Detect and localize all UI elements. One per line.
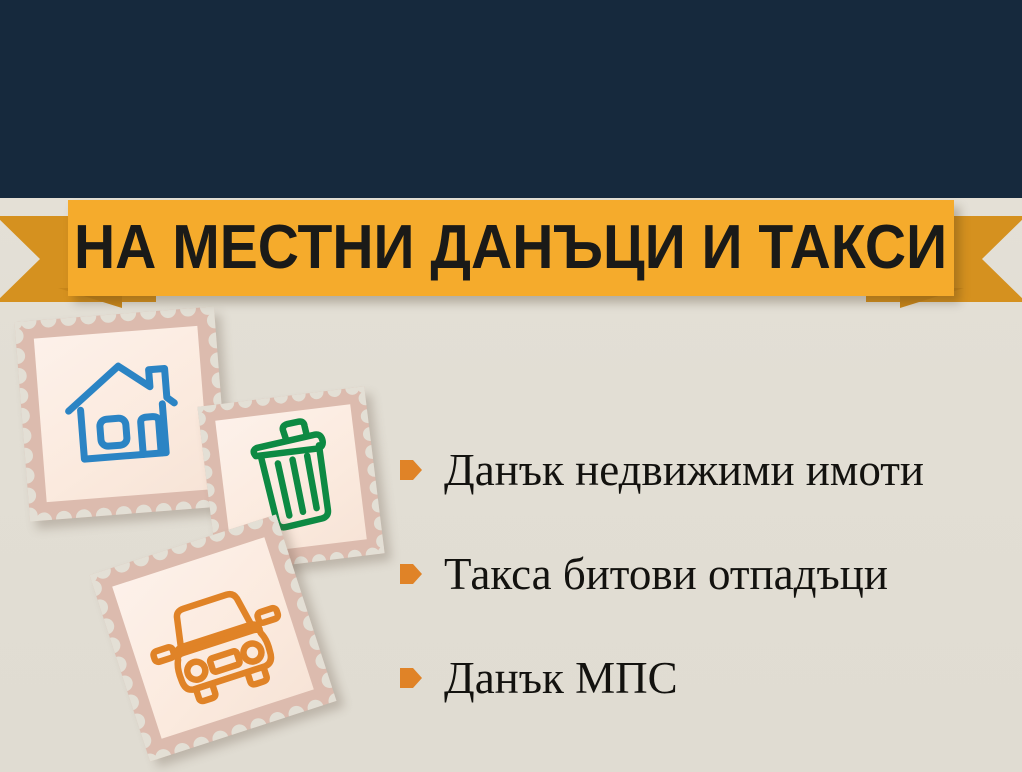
poster-canvas: община ЕЛИН ПЕЛИН <box>0 0 1022 772</box>
ribbon-label: НА МЕСТНИ ДАНЪЦИ И ТАКСИ <box>74 217 947 279</box>
list-item-label: Данък МПС <box>444 653 678 703</box>
header-bar <box>0 0 1022 198</box>
list-item[interactable]: Данък недвижими имоти <box>400 418 1010 522</box>
arrow-pentagon-icon <box>400 457 422 483</box>
list-item[interactable]: Такса битови отпадъци <box>400 522 1010 626</box>
list-item-label: Данък недвижими имоти <box>444 445 924 495</box>
list-item-label: Такса битови отпадъци <box>444 549 888 599</box>
ribbon-band: НА МЕСТНИ ДАНЪЦИ И ТАКСИ <box>68 200 954 296</box>
subtitle-ribbon: НА МЕСТНИ ДАНЪЦИ И ТАКСИ <box>0 196 1022 314</box>
arrow-pentagon-icon <box>400 665 422 691</box>
list-item[interactable]: Данък МПС <box>400 626 1010 730</box>
tax-type-list: Данък недвижими имоти Такса битови отпад… <box>400 418 1010 730</box>
arrow-pentagon-icon <box>400 561 422 587</box>
